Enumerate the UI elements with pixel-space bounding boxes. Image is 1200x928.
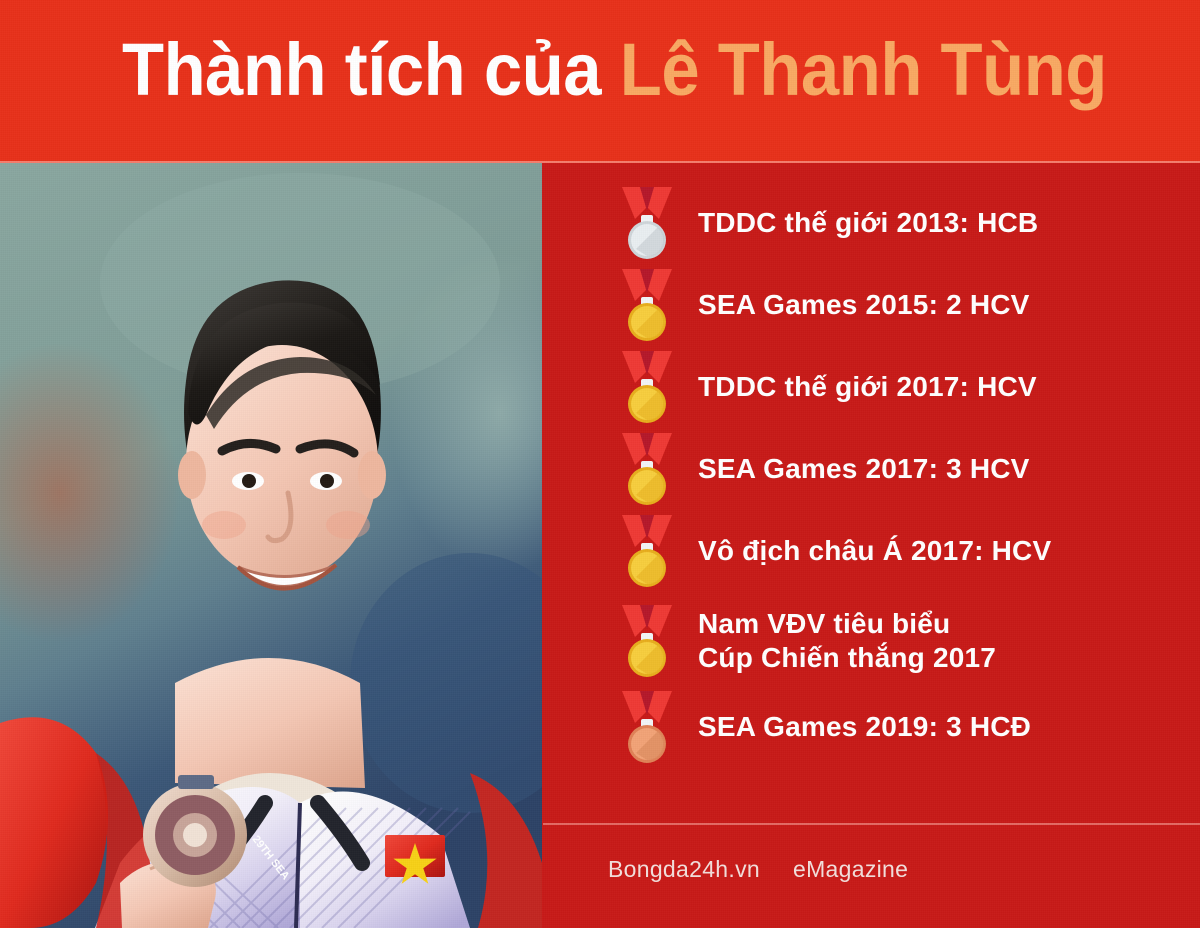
achievement-row: SEA Games 2015: 2 HCV <box>542 267 1200 343</box>
achievement-row: TDDC thế giới 2017: HCV <box>542 349 1200 425</box>
achievement-row: SEA Games 2019: 3 HCĐ <box>542 689 1200 765</box>
bronze-medal-icon <box>618 689 676 765</box>
infographic-poster: Thành tích của Lê Thanh Tùng <box>0 0 1200 928</box>
footer-divider <box>543 823 1200 825</box>
gold-medal-icon <box>618 349 676 425</box>
footer-section-label[interactable]: eMagazine <box>793 856 908 883</box>
footer-site-name[interactable]: Bongda24h.vn <box>608 856 760 883</box>
achievement-text: TDDC thế giới 2013: HCB <box>698 206 1038 240</box>
achievement-text: SEA Games 2017: 3 HCV <box>698 452 1030 486</box>
achievement-text: TDDC thế giới 2017: HCV <box>698 370 1037 404</box>
footer: Bongda24h.vn eMagazine <box>543 848 1200 898</box>
gold-medal-icon <box>618 513 676 589</box>
achievement-row: SEA Games 2017: 3 HCV <box>542 431 1200 507</box>
achievement-row: Vô địch châu Á 2017: HCV <box>542 513 1200 589</box>
athlete-photo: 29TH SEA <box>0 163 542 928</box>
achievements-list: TDDC thế giới 2013: HCB SEA Games 2015: … <box>542 163 1200 928</box>
page-title-orange: Lê Thanh Tùng <box>620 28 1107 111</box>
gold-medal-icon <box>618 603 676 679</box>
gold-medal-icon <box>618 267 676 343</box>
achievement-row: TDDC thế giới 2013: HCB <box>542 185 1200 261</box>
silver-medal-icon <box>618 185 676 261</box>
achievement-row: Nam VĐV tiêu biểu Cúp Chiến thắng 2017 <box>542 595 1200 687</box>
achievement-text: Nam VĐV tiêu biểu Cúp Chiến thắng 2017 <box>698 607 996 675</box>
gold-medal-icon <box>618 431 676 507</box>
page-title-white: Thành tích của <box>122 28 620 111</box>
achievement-text: Vô địch châu Á 2017: HCV <box>698 534 1051 568</box>
achievement-text: SEA Games 2015: 2 HCV <box>698 288 1030 322</box>
achievement-text: SEA Games 2019: 3 HCĐ <box>698 710 1031 744</box>
page-title: Thành tích của Lê Thanh Tùng <box>122 33 1107 107</box>
header-band: Thành tích của Lê Thanh Tùng <box>0 0 1200 163</box>
